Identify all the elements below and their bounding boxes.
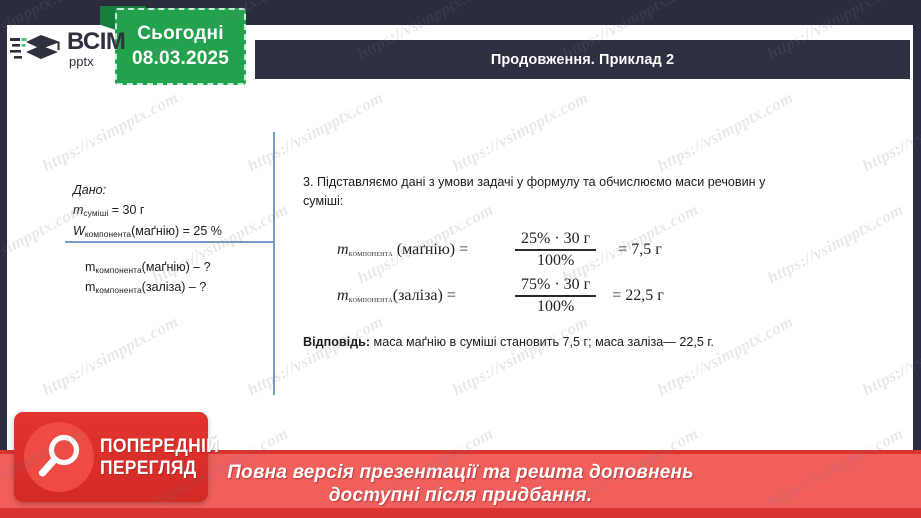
find-line-2-value: (заліза) – ? [142, 280, 207, 294]
date-badge: Сьогодні 08.03.2025 [115, 8, 246, 85]
find-line-2-symbol: m [85, 280, 95, 294]
preview-button-line-1: ПОПЕРЕДНІЙ [100, 437, 219, 456]
formula-list: mкомпонента (маґнію) = 25% · 30 г 100% =… [337, 227, 757, 319]
slide-header-bar: Продовження. Приклад 2 [255, 40, 910, 79]
page-title: Продовження. Приклад 2 [491, 52, 674, 68]
find-line-1: mкомпонента(маґнію) – ? [85, 257, 285, 277]
step-text: 3. Підставляємо дані з умови задачі у фо… [303, 173, 803, 211]
formula-2-subscript: компонента [349, 294, 393, 304]
given-block: Дано: mсуміші = 30 г Wкомпонента(маґнію)… [73, 180, 273, 241]
find-line-1-subscript: компонента [95, 265, 141, 275]
formula-2-result: = 22,5 г [612, 287, 664, 305]
given-line-2-symbol: W [73, 224, 85, 238]
formula-1-symbol: m [337, 241, 349, 258]
formula-1-lhs: mкомпонента (маґнію) = [337, 241, 489, 259]
given-line-1: mсуміші = 30 г [73, 200, 273, 220]
given-line-1-value: = 30 г [108, 203, 144, 217]
formula-2-numerator: 75% · 30 г [515, 276, 596, 295]
find-block: mкомпонента(маґнію) – ? mкомпонента(залі… [85, 257, 285, 298]
preview-button-label: ПОПЕРЕДНІЙ ПЕРЕГЛЯД [100, 437, 229, 478]
find-line-2: mкомпонента(заліза) – ? [85, 277, 285, 297]
banner-line-2: доступні після придбання. [329, 484, 593, 507]
given-line-2-value: (маґнію) = 25 % [131, 224, 222, 238]
answer-label: Відповідь: [303, 335, 370, 349]
given-line-1-symbol: m [73, 203, 83, 217]
formula-1-fraction: 25% · 30 г 100% [515, 230, 596, 269]
formula-2-lhs: mкомпонента(заліза) = [337, 287, 489, 305]
find-line-2-subscript: компонента [95, 285, 141, 295]
brand-suffix: pptx [69, 55, 125, 68]
given-line-2: Wкомпонента(маґнію) = 25 % [73, 221, 273, 241]
given-label: Дано: [73, 180, 273, 200]
horizontal-divider [65, 241, 275, 243]
find-line-1-symbol: m [85, 260, 95, 274]
formula-row-magnesium: mкомпонента (маґнію) = 25% · 30 г 100% =… [337, 227, 757, 273]
given-line-1-subscript: суміші [83, 208, 108, 218]
formula-1-denominator: 100% [531, 251, 580, 270]
formula-2-fraction: 75% · 30 г 100% [515, 276, 596, 315]
date-badge-label: Сьогодні [137, 23, 223, 45]
brand-name: ВСІМ [67, 30, 125, 54]
graduation-cap-icon [10, 31, 62, 67]
brand-logo: ВСІМ pptx [10, 30, 125, 68]
preview-button-line-2: ПЕРЕГЛЯД [100, 459, 219, 478]
formula-row-iron: mкомпонента(заліза) = 75% · 30 г 100% = … [337, 273, 757, 319]
graduation-cap-svg [10, 31, 62, 67]
formula-1-subscript: компонента [349, 248, 393, 258]
answer-text: маса маґнію в суміші становить 7,5 г; ма… [370, 335, 714, 349]
magnifier-icon [24, 422, 94, 492]
formula-2-symbol: m [337, 287, 349, 304]
formula-2-denominator: 100% [531, 297, 580, 316]
find-line-1-value: (маґнію) – ? [142, 260, 211, 274]
preview-button[interactable]: ПОПЕРЕДНІЙ ПЕРЕГЛЯД [14, 412, 208, 502]
formula-2-argument: (заліза) = [393, 287, 456, 304]
slide-content: Дано: mсуміші = 30 г Wкомпонента(маґнію)… [7, 85, 913, 435]
banner-line-1: Повна версія презентації та решта доповн… [227, 461, 693, 484]
formula-1-result: = 7,5 г [618, 241, 662, 259]
formula-1-argument: (маґнію) = [393, 241, 468, 258]
brand-logo-text: ВСІМ pptx [67, 30, 125, 68]
magnifier-svg [33, 431, 85, 483]
answer-line: Відповідь: маса маґнію в суміші становит… [303, 335, 823, 349]
given-line-2-subscript: компонента [85, 228, 131, 238]
date-badge-value: 08.03.2025 [132, 48, 229, 70]
formula-1-numerator: 25% · 30 г [515, 230, 596, 249]
